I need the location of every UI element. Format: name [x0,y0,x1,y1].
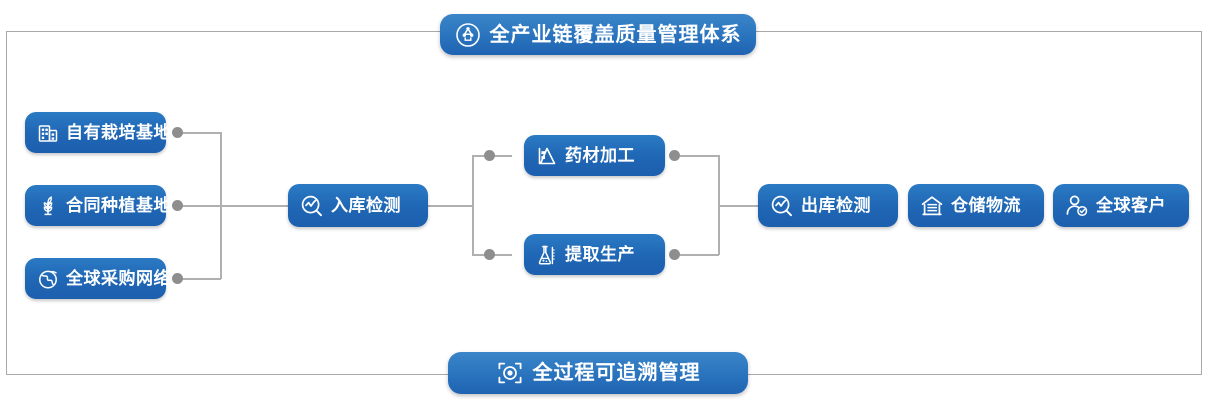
connector-bus-left [220,132,222,279]
factory-icon [535,144,559,168]
connector-bus-mid [472,155,474,255]
node-warehouse-logistics[interactable]: 仓储物流 [908,184,1044,227]
connector-dot-processing-2 [484,249,495,260]
warehouse-icon [919,193,945,219]
scan-target-icon [496,359,524,387]
node-extraction-production[interactable]: 提取生产 [524,234,665,275]
magnifier-wave-icon [769,193,795,219]
connector-dot-source-2 [172,200,183,211]
connector-line-merge-2 [680,254,719,256]
node-label: 自有栽培基地 [66,124,171,141]
globe-icon [36,267,60,291]
connector-dot-processing-out-1 [669,150,680,161]
diagram-canvas: 全产业链覆盖质量管理体系 自有栽培基地 [0,0,1206,405]
node-inbound-inspection[interactable]: 入库检测 [288,184,428,227]
title-banner[interactable]: 全产业链覆盖质量管理体系 [440,14,756,55]
node-label: 药材加工 [565,147,635,164]
node-herb-processing[interactable]: 药材加工 [524,135,665,176]
connector-line-source-2 [180,205,288,207]
footer-banner[interactable]: 全过程可追溯管理 [448,352,748,394]
node-label: 出库检测 [801,197,871,214]
node-label: 提取生产 [565,246,635,263]
footer-banner-label: 全过程可追溯管理 [533,363,701,383]
node-label: 全球客户 [1096,197,1166,214]
connector-dot-source-1 [172,127,183,138]
node-source-own-cultivation[interactable]: 自有栽培基地 [25,112,166,153]
node-label: 入库检测 [331,197,401,214]
user-check-icon [1064,193,1090,219]
connector-dot-processing-out-2 [669,249,680,260]
node-label: 合同种植基地 [66,197,171,214]
connector-line-outbound-in [718,205,760,207]
connector-line-inbound-out [428,205,473,207]
node-global-customers[interactable]: 全球客户 [1053,184,1189,227]
connector-dot-source-3 [172,273,183,284]
node-outbound-inspection[interactable]: 出库检测 [758,184,898,227]
node-source-global-sourcing[interactable]: 全球采购网络 [25,258,166,299]
recycle-circle-icon [455,22,481,48]
node-label: 全球采购网络 [66,270,171,287]
title-banner-label: 全产业链覆盖质量管理体系 [490,25,742,45]
node-label: 仓储物流 [951,197,1021,214]
building-icon [36,121,60,145]
node-source-contract-planting[interactable]: 合同种植基地 [25,185,166,226]
connector-line-merge-1 [680,155,719,157]
connector-line-source-3 [180,278,221,280]
magnifier-wave-icon [299,193,325,219]
plant-sprout-icon [36,194,60,218]
connector-dot-processing-1 [484,150,495,161]
connector-line-source-1 [180,132,221,134]
flask-icon [535,243,559,267]
